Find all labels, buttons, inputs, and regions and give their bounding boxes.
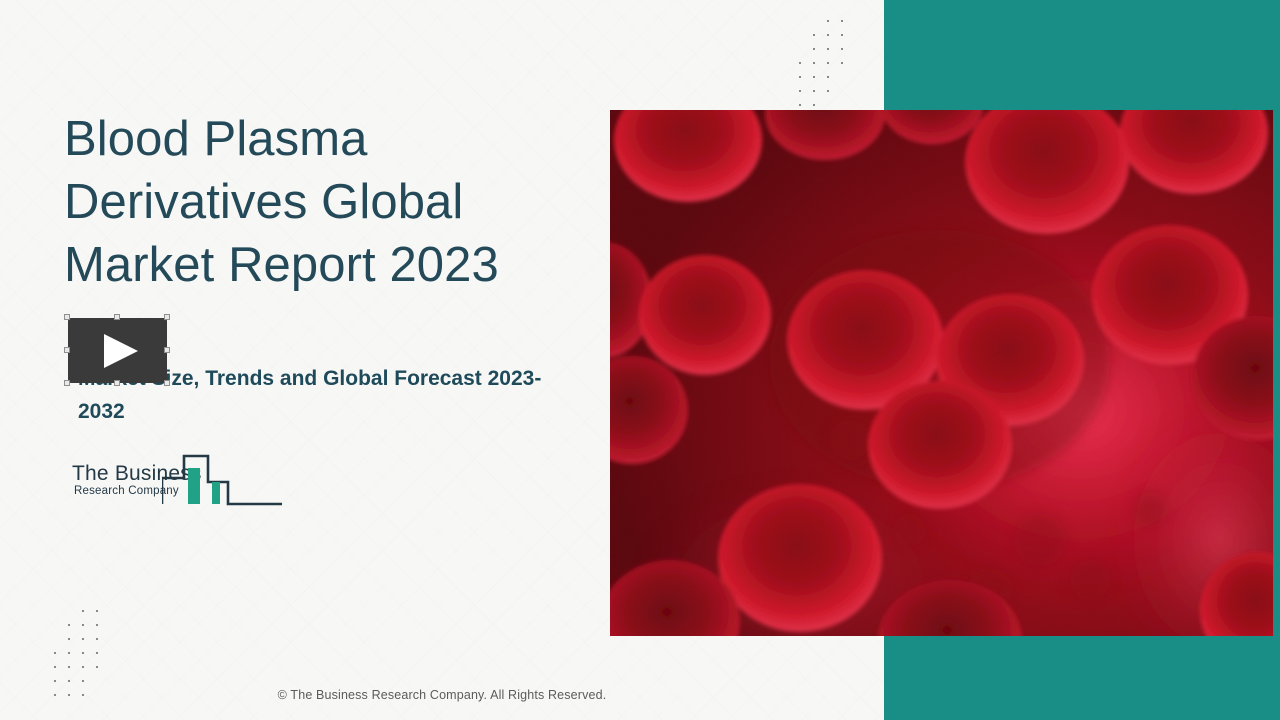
presentation-slide: Blood Plasma Derivatives Global Market R…	[0, 0, 1280, 720]
company-logo: The Business Research Company	[70, 452, 282, 514]
resize-handle-top-center[interactable]	[114, 314, 120, 320]
dot-pattern-top	[793, 14, 851, 106]
resize-handle-bottom-left[interactable]	[64, 380, 70, 386]
teal-block-top-right	[884, 0, 1280, 110]
play-icon[interactable]	[104, 334, 138, 368]
video-placeholder[interactable]	[68, 318, 167, 383]
resize-handle-bottom-center[interactable]	[114, 380, 120, 386]
hero-image	[610, 110, 1273, 636]
teal-block-bottom-right	[884, 635, 1280, 720]
footer-copyright: © The Business Research Company. All Rig…	[0, 688, 884, 702]
page-title: Blood Plasma Derivatives Global Market R…	[64, 108, 584, 297]
logo-bar-chart-icon	[162, 452, 282, 510]
resize-handle-top-right[interactable]	[164, 314, 170, 320]
blood-cells-illustration	[610, 110, 1273, 636]
resize-handle-top-left[interactable]	[64, 314, 70, 320]
dot-pattern-bottom	[48, 604, 110, 700]
resize-handle-middle-right[interactable]	[164, 347, 170, 353]
resize-handle-middle-left[interactable]	[64, 347, 70, 353]
resize-handle-bottom-right[interactable]	[164, 380, 170, 386]
teal-strip-right	[1273, 110, 1280, 636]
